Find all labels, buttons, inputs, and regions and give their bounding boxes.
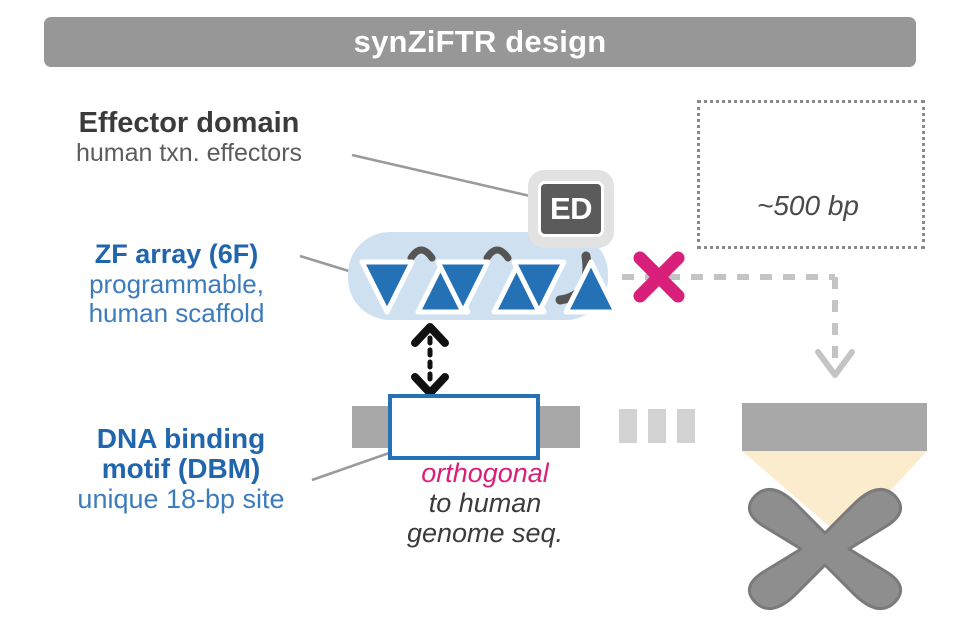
dna-continuation-marks — [619, 409, 695, 443]
dbm-detail: unique 18-bp site — [36, 485, 326, 514]
dbm-title-line1: DNA binding — [36, 424, 326, 454]
effector-domain-label: ED — [538, 181, 604, 237]
dbm-title-line2: motif (DBM) — [36, 454, 326, 484]
binding-arrow — [415, 327, 445, 393]
dbm-site-box — [390, 396, 538, 458]
orthogonality-emphasis: orthogonal — [370, 458, 600, 488]
zf-array-detail-line1: programmable, — [34, 270, 319, 298]
effector-domain-detail: human txn. effectors — [24, 140, 354, 167]
zf-size-inset: ZF — [697, 100, 925, 249]
zf-array-title: ZF array (6F) — [34, 240, 319, 269]
off-target-path — [622, 277, 852, 375]
effector-domain-badge: ED — [528, 170, 614, 248]
inset-size-label: ~500 bp — [697, 190, 919, 222]
effector-domain-title: Effector domain — [24, 108, 354, 139]
inset-zf-label: ZF — [700, 103, 922, 149]
orthogonality-line3: genome seq. — [370, 518, 600, 548]
orthogonality-line2: to human — [370, 488, 600, 518]
genome-bar — [742, 403, 927, 451]
zf-array-annotation: ZF array (6F) programmable, human scaffo… — [34, 240, 319, 327]
effector-domain-annotation: Effector domain human txn. effectors — [24, 108, 354, 167]
zf-array-detail-line2: human scaffold — [34, 299, 319, 327]
dbm-annotation: DNA binding motif (DBM) unique 18-bp sit… — [36, 424, 326, 515]
synziftr-design-figure: synZiFTR design — [0, 0, 959, 630]
orthogonality-note: orthogonal to human genome seq. — [370, 458, 600, 549]
leader-line-effector — [352, 155, 530, 196]
